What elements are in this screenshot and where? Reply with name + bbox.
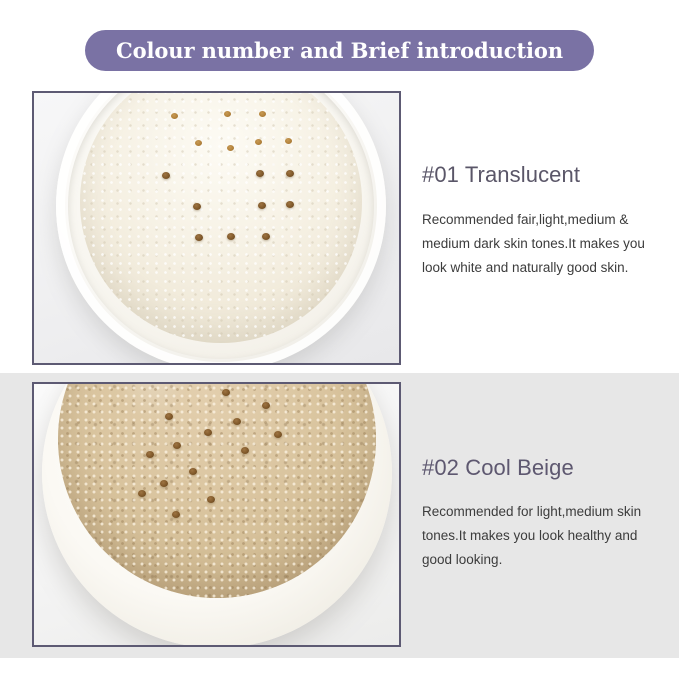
title-banner: Colour number and Brief introduction (85, 30, 594, 71)
shade-description-cool-beige: Recommended for light,medium skin tones.… (422, 500, 654, 572)
product-photo-cool-beige (32, 382, 401, 647)
sifter-holes-translucent (34, 93, 399, 363)
background-band-foot (0, 658, 679, 679)
shade-info-cool-beige: #02 Cool Beige Recommended for light,med… (422, 455, 672, 572)
photo-inner-cool-beige (34, 384, 399, 645)
photo-inner-translucent (34, 93, 399, 363)
sifter-holes-cool-beige (34, 384, 399, 645)
page-title: Colour number and Brief introduction (116, 40, 563, 62)
shade-heading-translucent: #01 Translucent (422, 162, 672, 188)
infographic-page: Colour number and Brief introduction (0, 0, 679, 679)
shade-heading-cool-beige: #02 Cool Beige (422, 455, 672, 481)
product-photo-translucent (32, 91, 401, 365)
shade-description-translucent: Recommended fair,light,medium & medium d… (422, 208, 654, 280)
shade-info-translucent: #01 Translucent Recommended fair,light,m… (422, 162, 672, 280)
